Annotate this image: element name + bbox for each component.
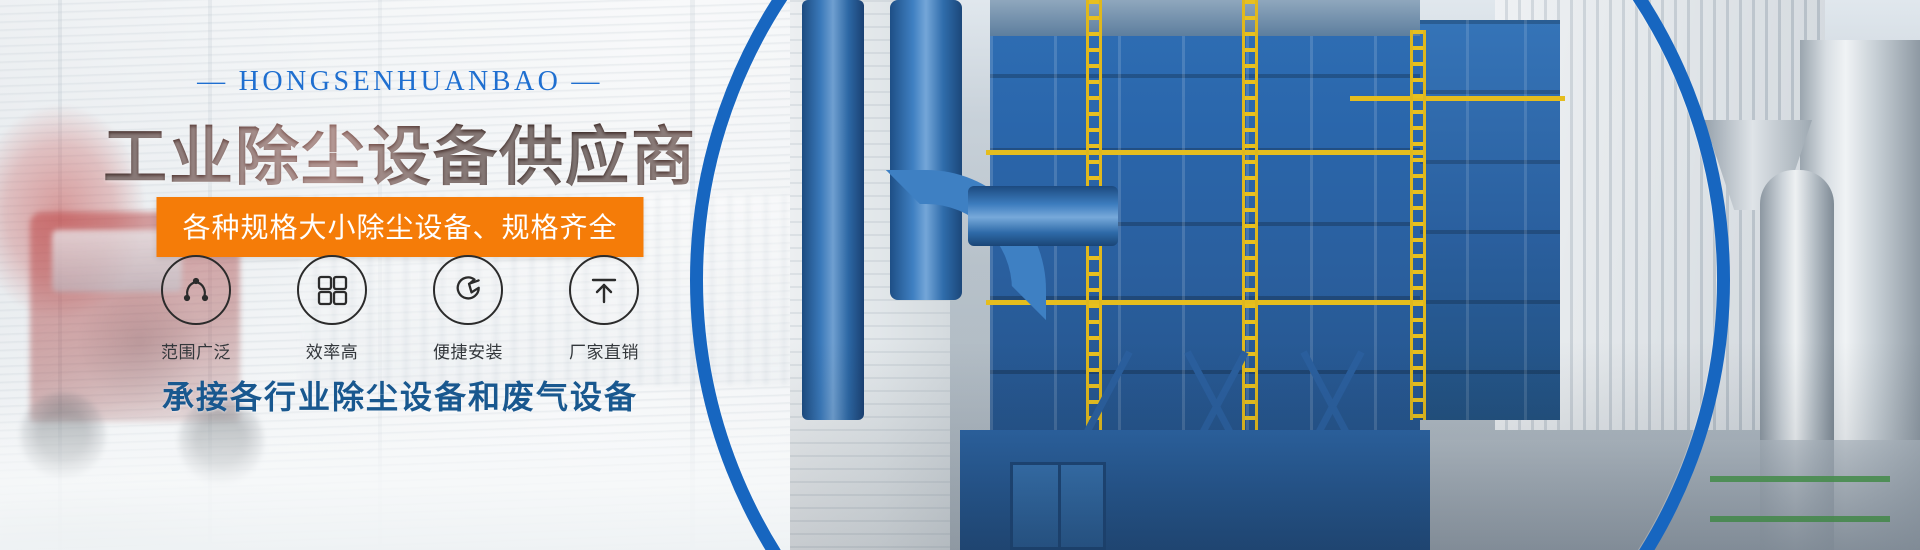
feature-item-easy-install[interactable]: 便捷安装 (416, 255, 520, 363)
photo-clip-region (790, 0, 1920, 550)
feature-list: 范围广泛 效率高 (0, 255, 800, 363)
eyebrow-dash-right: — (561, 66, 613, 98)
feature-label: 效率高 (280, 338, 384, 363)
subtitle-orange-bar: 各种规格大小除尘设备、规格齐全 (156, 197, 643, 257)
wrench-install-icon (433, 255, 503, 325)
brand-eyebrow: —HONGSENHUANBAO— (0, 66, 800, 98)
feature-item-factory-direct[interactable]: 厂家直销 (552, 255, 656, 363)
photo-vignette (790, 0, 1920, 550)
eyebrow-dash-left: — (187, 66, 239, 98)
feature-item-efficiency[interactable]: 效率高 (280, 255, 384, 363)
feature-label: 厂家直销 (552, 338, 656, 363)
feature-item-wide-range[interactable]: 范围广泛 (144, 255, 248, 363)
factory-direct-arrow-icon (569, 255, 639, 325)
banner-tagline: 承接各行业除尘设备和废气设备 (0, 372, 800, 418)
wide-range-icon (161, 255, 231, 325)
grid-efficiency-icon (297, 255, 367, 325)
industrial-dust-collector-photo (790, 0, 1920, 550)
feature-label: 范围广泛 (144, 338, 248, 363)
eyebrow-text: HONGSENHUANBAO (239, 66, 562, 97)
banner-content: —HONGSENHUANBAO— 工业除尘设备供应商 各种规格大小除尘设备、规格… (0, 0, 800, 550)
hero-banner: —HONGSENHUANBAO— 工业除尘设备供应商 各种规格大小除尘设备、规格… (0, 0, 1920, 550)
page-title: 工业除尘设备供应商 (0, 106, 800, 198)
feature-label: 便捷安装 (416, 338, 520, 363)
